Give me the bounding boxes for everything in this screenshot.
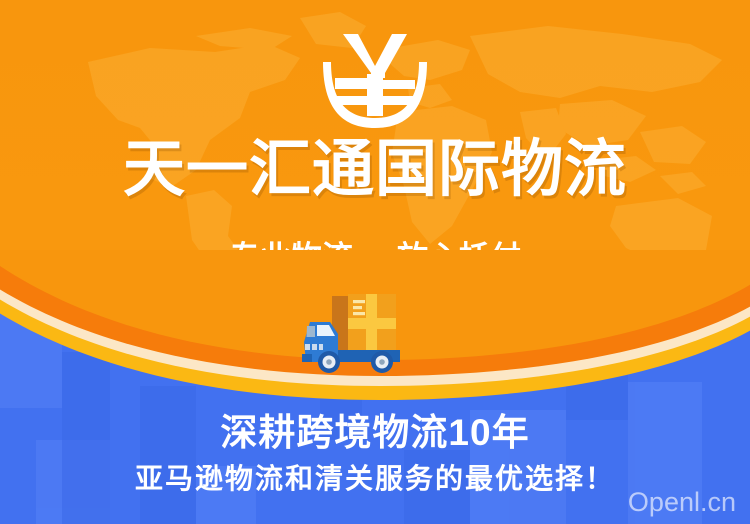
truck-side-window	[307, 326, 316, 337]
footer-headline: 深耕跨境物流10年	[0, 409, 750, 456]
page-title: 天一汇通国际物流	[0, 132, 750, 208]
delivery-truck-illustration	[296, 292, 416, 376]
watermark: Openl.cn	[628, 486, 736, 518]
truck-grille	[305, 344, 323, 350]
logistics-promo-banner: 天一汇通国际物流 专业物流放心托付	[0, 0, 750, 524]
wheel-front	[318, 351, 340, 373]
yen-bowl-icon	[315, 28, 435, 132]
truck-bumper	[302, 354, 312, 362]
wheel-rear	[371, 351, 393, 373]
cargo-strap-horizontal	[348, 318, 396, 329]
